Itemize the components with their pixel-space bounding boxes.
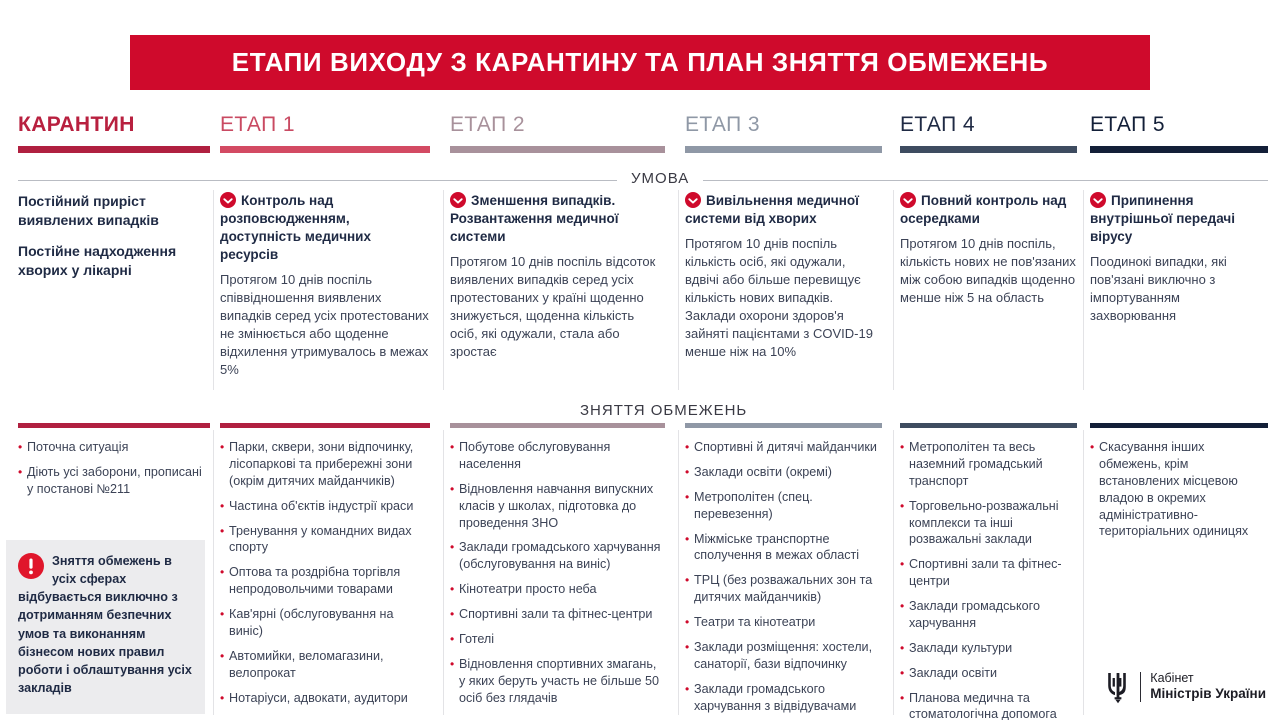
- stage-rule-5: [1090, 146, 1268, 153]
- list-item: Заклади освіти (окремі): [685, 464, 882, 481]
- quarantine-condition-line-1: Постійний приріст виявлених випадків: [18, 192, 210, 230]
- condition-block-quarantine: Постійний приріст виявлених випадків Пос…: [18, 192, 210, 292]
- condition-heading-4: Повний контроль над осередками: [900, 192, 1077, 228]
- condition-heading-3: Вивільнення медичної системи від хворих: [685, 192, 882, 228]
- list-item: Скасування інших обмежень, крім встановл…: [1090, 439, 1268, 540]
- list-item: Заклади громадського харчування: [900, 598, 1077, 632]
- ukraine-trident-icon: [1105, 670, 1131, 704]
- list-item: Тренування у командних видах спорту: [220, 523, 430, 557]
- list-item: Заклади освіти: [900, 665, 1077, 682]
- stage-column-4: ЕТАП 4 Повний контроль над осередками Пр…: [900, 105, 1077, 720]
- check-circle-icon: [450, 192, 466, 208]
- condition-section-label: УМОВА: [617, 170, 703, 187]
- warning-box: Зняття обмежень в усіх сферах відбуваєть…: [6, 540, 205, 714]
- condition-block-3: Вивільнення медичної системи від хворих …: [685, 192, 882, 360]
- condition-body-3: Протягом 10 днів поспіль кількість осіб,…: [685, 235, 882, 361]
- check-circle-icon: [685, 192, 701, 208]
- restrictions-list-2: Побутове обслуговування населення Віднов…: [450, 439, 665, 714]
- quarantine-condition-line-2: Постійне надходження хворих у лікарні: [18, 242, 210, 280]
- restrictions-list-4: Метрополітен та весь наземний громадськи…: [900, 439, 1077, 720]
- condition-body-4: Протягом 10 днів поспіль, кількість нови…: [900, 235, 1077, 307]
- list-item: Діють усі заборони, прописані у постанов…: [18, 464, 210, 498]
- warning-text: Зняття обмежень в усіх сферах відбуваєть…: [18, 552, 193, 697]
- list-item: Кінотеатри просто неба: [450, 581, 665, 598]
- condition-body-1: Протягом 10 днів поспіль співвідношення …: [220, 271, 430, 379]
- page-title: ЕТАПИ ВИХОДУ З КАРАНТИНУ ТА ПЛАН ЗНЯТТЯ …: [232, 47, 1048, 78]
- stage-title-2: ЕТАП 2: [450, 113, 525, 137]
- restrictions-rule-3: [685, 423, 882, 428]
- stage-rule-4: [900, 146, 1077, 153]
- list-item: Планова медична та стоматологічна допомо…: [900, 690, 1077, 720]
- condition-body-5: Поодинокі випадки, які пов'язані виключн…: [1090, 253, 1268, 325]
- stage-column-1: ЕТАП 1 Контроль над розповсюдженням, дос…: [220, 105, 430, 720]
- list-item: Готелі: [450, 631, 665, 648]
- condition-heading-5: Припинення внутрішньої передачі вірусу: [1090, 192, 1268, 246]
- list-item: Нотаріуси, адвокати, аудитори: [220, 690, 430, 707]
- stage-title-3: ЕТАП 3: [685, 113, 760, 137]
- condition-heading-text-5: Припинення внутрішньої передачі вірусу: [1090, 193, 1235, 244]
- list-item: Спортивні зали та фітнес-центри: [900, 556, 1077, 590]
- condition-body-2: Протягом 10 днів поспіль відсоток виявле…: [450, 253, 665, 361]
- stage-column-5: ЕТАП 5 Припинення внутрішньої передачі в…: [1090, 105, 1268, 720]
- list-item: Заклади громадського харчування з відвід…: [685, 681, 882, 715]
- list-item: Парки, сквери, зони відпочинку, лісопарк…: [220, 439, 430, 490]
- restrictions-list-1: Парки, сквери, зони відпочинку, лісопарк…: [220, 439, 430, 714]
- restrictions-rule-1: [220, 423, 430, 428]
- list-item: Побутове обслуговування населення: [450, 439, 665, 473]
- list-item: Відновлення навчання випускних класів у …: [450, 481, 665, 532]
- stage-title-quarantine: КАРАНТИН: [18, 113, 135, 137]
- infographic-page: ЕТАПИ ВИХОДУ З КАРАНТИНУ ТА ПЛАН ЗНЯТТЯ …: [0, 0, 1280, 720]
- logo-line-1: Кабінет: [1150, 671, 1266, 686]
- restrictions-rule-quarantine: [18, 423, 210, 428]
- list-item: Заклади розміщення: хостели, санаторії, …: [685, 639, 882, 673]
- restrictions-rule-4: [900, 423, 1077, 428]
- exclamation-circle-icon: [18, 553, 44, 579]
- list-item: Метрополітен (спец. перевезення): [685, 489, 882, 523]
- restrictions-rule-5: [1090, 423, 1268, 428]
- list-item: Метрополітен та весь наземний громадськи…: [900, 439, 1077, 490]
- stage-title-5: ЕТАП 5: [1090, 113, 1165, 137]
- condition-heading-text-4: Повний контроль над осередками: [900, 193, 1066, 226]
- stage-rule-2: [450, 146, 665, 153]
- condition-heading-text-3: Вивільнення медичної системи від хворих: [685, 193, 859, 226]
- list-item: Відновлення спортивних змагань, у яких б…: [450, 656, 665, 707]
- list-item: Театри та кінотеатри: [685, 614, 882, 631]
- list-item: Заклади культури: [900, 640, 1077, 657]
- list-item: Автомийки, веломагазини, велопрокат: [220, 648, 430, 682]
- restrictions-list-5: Скасування інших обмежень, крім встановл…: [1090, 439, 1268, 548]
- list-item: Торговельно-розважальні комплекси та інш…: [900, 498, 1077, 549]
- check-circle-icon: [900, 192, 916, 208]
- list-item: Оптова та роздрібна торгівля непродоволь…: [220, 564, 430, 598]
- condition-heading-2: Зменшення випадків. Розвантаження медичн…: [450, 192, 665, 246]
- restrictions-rule-2: [450, 423, 665, 428]
- restrictions-list-3: Спортивні й дитячі майданчики Заклади ос…: [685, 439, 882, 720]
- logo-line-2: Міністрів України: [1150, 686, 1266, 702]
- condition-heading-text-2: Зменшення випадків. Розвантаження медичн…: [450, 193, 619, 244]
- check-circle-icon: [1090, 192, 1106, 208]
- list-item: Спортивні зали та фітнес-центри: [450, 606, 665, 623]
- list-item: Поточна ситуація: [18, 439, 210, 456]
- title-banner: ЕТАПИ ВИХОДУ З КАРАНТИНУ ТА ПЛАН ЗНЯТТЯ …: [130, 35, 1150, 90]
- cabinet-of-ministers-logo: Кабінет Міністрів України: [1105, 670, 1266, 704]
- condition-block-5: Припинення внутрішньої передачі вірусу П…: [1090, 192, 1268, 325]
- condition-block-2: Зменшення випадків. Розвантаження медичн…: [450, 192, 665, 360]
- stage-rule-3: [685, 146, 882, 153]
- restrictions-section-label: ЗНЯТТЯ ОБМЕЖЕНЬ: [566, 402, 761, 419]
- stage-rule-quarantine: [18, 146, 210, 153]
- list-item: Міжміське транспортне сполучення в межах…: [685, 531, 882, 565]
- list-item: Кав'ярні (обслуговування на виніс): [220, 606, 430, 640]
- condition-block-1: Контроль над розповсюдженням, доступніст…: [220, 192, 430, 378]
- list-item: ТРЦ (без розважальних зон та дитячих май…: [685, 572, 882, 606]
- condition-heading-1: Контроль над розповсюдженням, доступніст…: [220, 192, 430, 264]
- condition-heading-text-1: Контроль над розповсюдженням, доступніст…: [220, 193, 371, 262]
- restrictions-list-quarantine: Поточна ситуація Діють усі заборони, про…: [18, 439, 210, 506]
- stage-title-1: ЕТАП 1: [220, 113, 295, 137]
- list-item: Заклади громадського харчування (обслуго…: [450, 539, 665, 573]
- stage-rule-1: [220, 146, 430, 153]
- check-circle-icon: [220, 192, 236, 208]
- logo-divider: [1140, 672, 1141, 702]
- condition-block-4: Повний контроль над осередками Протягом …: [900, 192, 1077, 307]
- stage-title-4: ЕТАП 4: [900, 113, 975, 137]
- logo-text: Кабінет Міністрів України: [1150, 671, 1266, 702]
- list-item: Частина об'єктів індустрії краси: [220, 498, 430, 515]
- list-item: Спортивні й дитячі майданчики: [685, 439, 882, 456]
